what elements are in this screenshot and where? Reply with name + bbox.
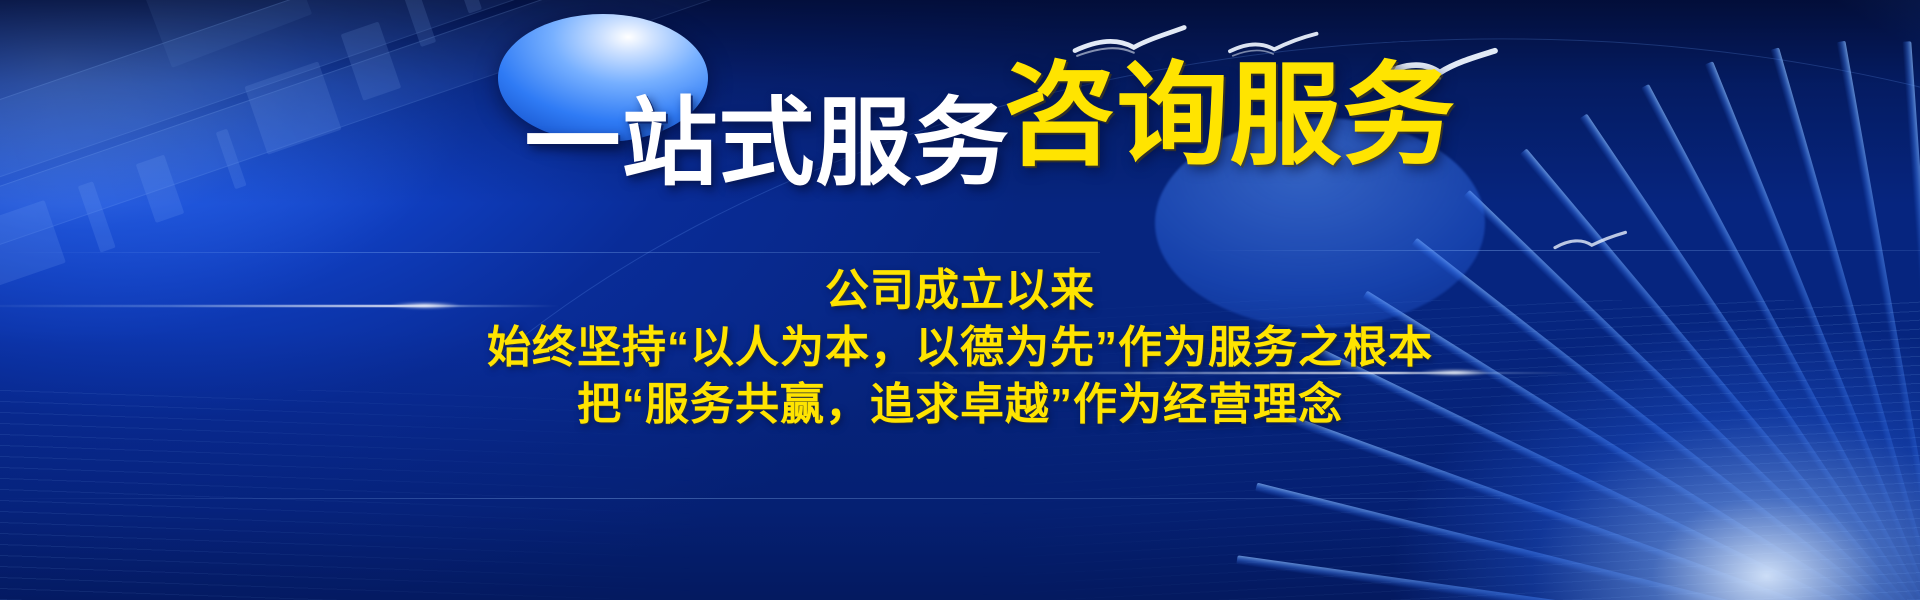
seagull-icon [1555,232,1625,247]
seagull-icon [1230,34,1316,56]
promo-banner: 一站式服务咨询服务 公司成立以来 始终坚持“以人为本，以德为先”作为服务之根本 … [0,0,1920,600]
seagulls-group [0,0,1920,600]
seagull-icon [1075,28,1184,56]
seagull-icon [1380,51,1495,82]
